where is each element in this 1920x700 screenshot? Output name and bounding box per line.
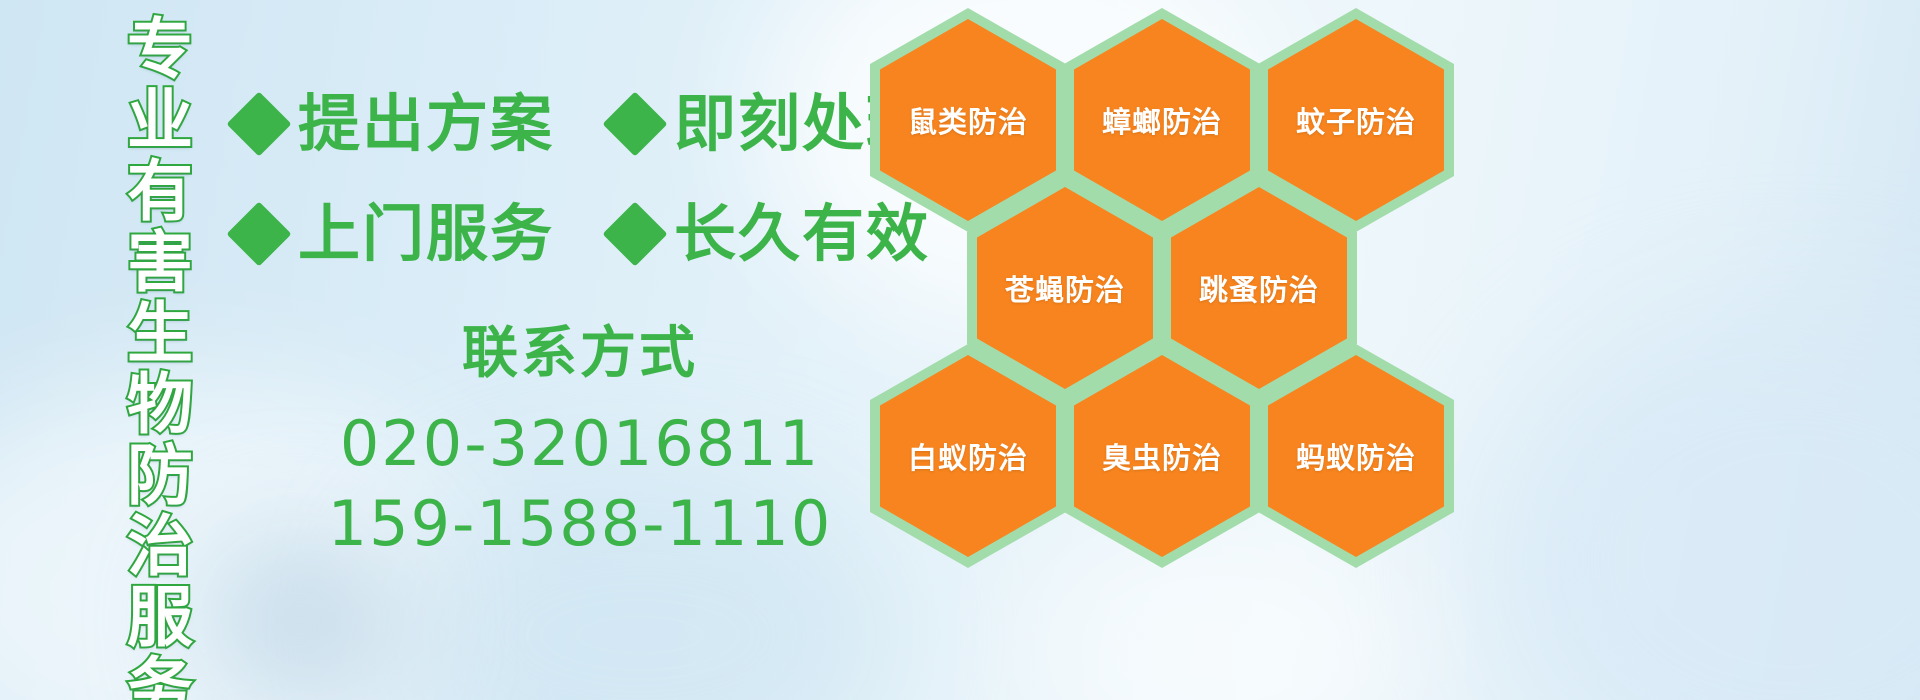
vertical-headline-char: 物 (127, 369, 193, 440)
diamond-bullet-icon (226, 91, 291, 156)
contact-block: 联系方式 020-32016811 159-1588-1110 (300, 322, 860, 563)
contact-phone-mobile[interactable]: 159-1588-1110 (300, 484, 860, 563)
hex-inner: 鼠类防治 (880, 19, 1056, 221)
hex-inner: 白蚁防治 (880, 355, 1056, 557)
vertical-headline-char: 服 (127, 582, 193, 653)
feature-row-2: 上门服务 长久有效 (236, 203, 930, 265)
contact-heading: 联系方式 (300, 322, 860, 386)
vertical-headline-char: 有 (127, 156, 193, 227)
hex-inner: 苍蝇防治 (977, 187, 1153, 389)
feature-item-propose-plan: 提出方案 (236, 93, 554, 155)
hex-label: 白蚁防治 (908, 435, 1028, 477)
hex-inner: 蚂蚁防治 (1268, 355, 1444, 557)
hex-label: 鼠类防治 (908, 99, 1028, 141)
hex-label: 蟑螂防治 (1102, 99, 1222, 141)
pest-control-service-banner: 专 业 有 害 生 物 防 治 服 务 提出方案 即刻处理 上门服务 长久有效 (0, 0, 1920, 700)
hex-inner: 跳蚤防治 (1171, 187, 1347, 389)
feature-label: 上门服务 (298, 203, 554, 265)
hex-inner: 臭虫防治 (1074, 355, 1250, 557)
hex-label: 跳蚤防治 (1199, 267, 1319, 309)
vertical-headline-char: 专 (127, 14, 193, 85)
vertical-headline: 专 业 有 害 生 物 防 治 服 务 (108, 14, 212, 674)
vertical-headline-char: 治 (127, 511, 193, 582)
vertical-headline-char: 务 (127, 653, 193, 700)
diamond-bullet-icon (602, 91, 667, 156)
vertical-headline-char: 业 (127, 85, 193, 156)
diamond-bullet-icon (602, 201, 667, 266)
hex-inner: 蟑螂防治 (1074, 19, 1250, 221)
hex-label: 蚊子防治 (1296, 99, 1416, 141)
hex-label: 臭虫防治 (1102, 435, 1222, 477)
service-honeycomb: 鼠类防治 蟑螂防治 蚊子防治 苍蝇防治 跳蚤防治 白蚁防治 (862, 0, 1462, 560)
vertical-headline-char: 害 (127, 227, 193, 298)
diamond-bullet-icon (226, 201, 291, 266)
feature-row-1: 提出方案 即刻处理 (236, 93, 930, 155)
feature-item-onsite-service: 上门服务 (236, 203, 554, 265)
contact-phone-landline[interactable]: 020-32016811 (300, 404, 860, 483)
hex-inner: 蚊子防治 (1268, 19, 1444, 221)
background-blob (210, 540, 390, 700)
vertical-headline-char: 生 (127, 298, 193, 369)
hex-label: 苍蝇防治 (1005, 267, 1125, 309)
feature-label: 提出方案 (298, 93, 554, 155)
hex-label: 蚂蚁防治 (1296, 435, 1416, 477)
vertical-headline-char: 防 (127, 440, 193, 511)
background-blob (1480, 300, 1920, 700)
